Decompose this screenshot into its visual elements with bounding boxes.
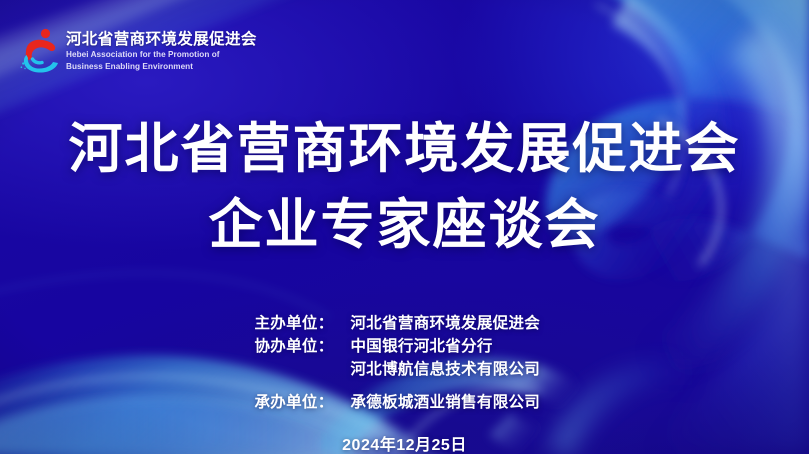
credit-value-co-host: 中国银行河北省分行: [351, 336, 555, 359]
event-date: 2024年12月25日: [342, 431, 467, 454]
hebei-association-logo-mark: [20, 27, 60, 74]
logo-english-line-2: Business Enabling Environment: [66, 61, 257, 73]
credit-row-co-host: 协办单位： 中国银行河北省分行: [255, 336, 555, 359]
credit-row-co-host-secondary: 河北博航信息技术有限公司: [255, 359, 555, 382]
association-logo: 河北省营商环境发展促进会 Hebei Association for the P…: [20, 27, 257, 74]
logo-text-block: 河北省营商环境发展促进会 Hebei Association for the P…: [66, 27, 257, 73]
page-title: 河北省营商环境发展促进会 企业专家座谈会: [0, 122, 809, 252]
credit-label-co-host: 协办单位：: [255, 336, 351, 359]
credit-label-organizer: 承办单位：: [255, 392, 351, 415]
logo-english-line-1: Hebei Association for the Promotion of: [66, 49, 257, 61]
credit-label-host: 主办单位：: [255, 313, 351, 336]
title-line-1: 河北省营商环境发展促进会: [0, 122, 809, 176]
credit-value-organizer: 承德板城酒业销售有限公司: [351, 392, 555, 415]
credit-value-host: 河北省营商环境发展促进会: [351, 313, 555, 336]
logo-chinese-name: 河北省营商环境发展促进会: [66, 31, 257, 49]
credit-row-host: 主办单位： 河北省营商环境发展促进会: [255, 313, 555, 336]
credit-row-organizer: 承办单位： 承德板城酒业销售有限公司: [255, 392, 555, 415]
title-line-2: 企业专家座谈会: [0, 198, 809, 252]
credit-value-co-host-secondary: 河北博航信息技术有限公司: [351, 359, 555, 382]
credits-block: 主办单位： 河北省营商环境发展促进会 协办单位： 中国银行河北省分行 河北博航信…: [0, 313, 809, 454]
event-banner: 河北省营商环境发展促进会 Hebei Association for the P…: [0, 0, 809, 454]
